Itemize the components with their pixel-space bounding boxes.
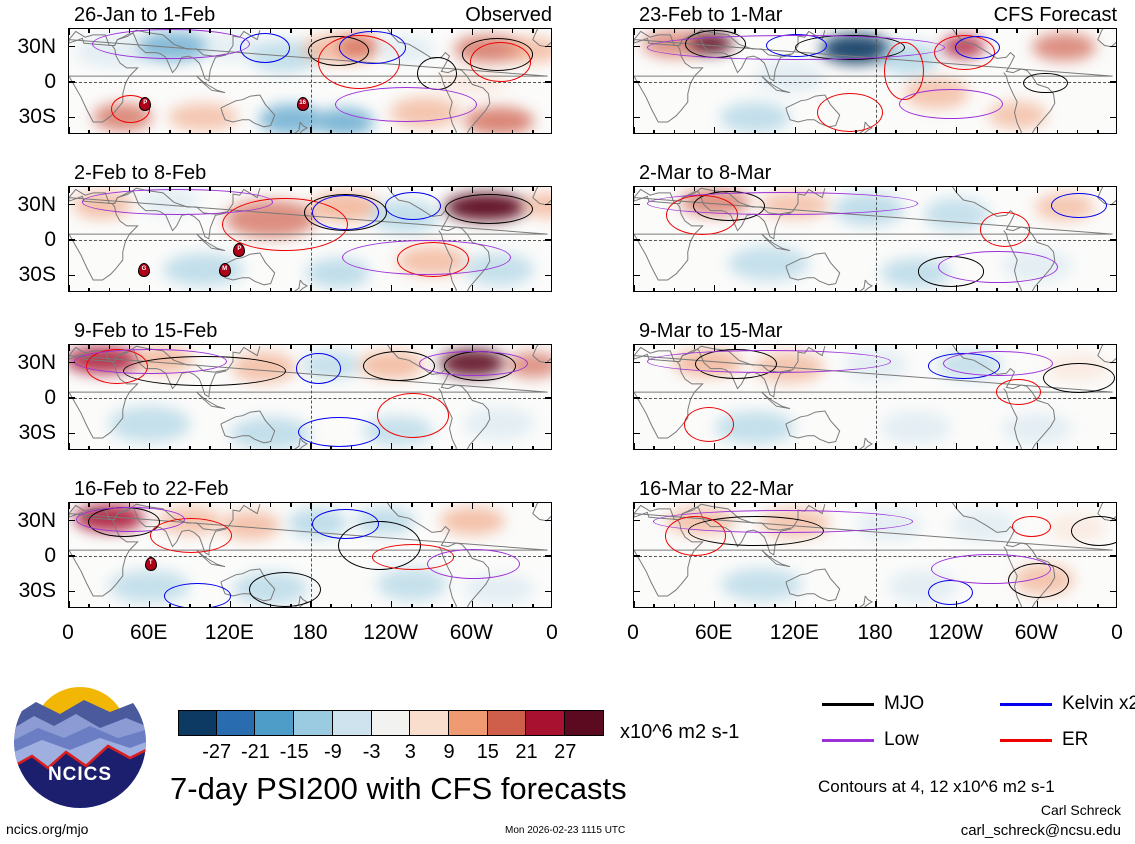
axis-tick	[68, 29, 69, 35]
axis-minor-tick	[532, 288, 533, 292]
axis-minor-tick	[411, 187, 412, 191]
axis-tick	[310, 443, 311, 449]
y-axis-label: 30N	[0, 510, 56, 531]
axis-tick	[472, 601, 473, 607]
axis-minor-tick	[512, 29, 513, 33]
axis-tick	[545, 555, 551, 556]
axis-minor-tick	[976, 29, 977, 33]
axis-minor-tick	[936, 604, 937, 608]
axis-minor-tick	[976, 446, 977, 450]
axis-tick	[472, 443, 473, 449]
axis-tick	[69, 555, 75, 556]
axis-minor-tick	[774, 29, 775, 33]
axis-minor-tick	[835, 446, 836, 450]
axis-minor-tick	[451, 29, 452, 33]
axis-minor-tick	[371, 604, 372, 608]
cyclone-marker: G	[138, 263, 150, 277]
axis-tick	[68, 443, 69, 449]
logo-mountains	[14, 676, 146, 808]
axis-minor-tick	[209, 604, 210, 608]
axis-minor-tick	[936, 29, 937, 33]
axis-minor-tick	[855, 29, 856, 33]
axis-minor-tick	[936, 187, 937, 191]
axis-tick	[310, 601, 311, 607]
axis-minor-tick	[815, 187, 816, 191]
axis-minor-tick	[330, 604, 331, 608]
axis-minor-tick	[371, 130, 372, 134]
panel-title: 9-Feb to 15-Feb	[74, 321, 217, 341]
colorbar-units-label: x10^6 m2 s-1	[620, 722, 739, 742]
axis-tick	[472, 285, 473, 291]
axis-tick	[956, 345, 957, 351]
axis-tick	[1110, 520, 1116, 521]
axis-minor-tick	[1016, 604, 1017, 608]
axis-tick	[391, 29, 392, 35]
axis-tick	[68, 285, 69, 291]
axis-minor-tick	[1077, 503, 1078, 507]
axis-minor-tick	[694, 29, 695, 33]
colorbar-swatch	[217, 710, 256, 736]
axis-minor-tick	[774, 604, 775, 608]
axis-tick	[230, 127, 231, 133]
axis-minor-tick	[351, 187, 352, 191]
axis-tick	[714, 127, 715, 133]
axis-minor-tick	[290, 130, 291, 134]
axis-minor-tick	[674, 503, 675, 507]
axis-minor-tick	[532, 345, 533, 349]
axis-minor-tick	[754, 130, 755, 134]
axis-tick	[634, 46, 640, 47]
axis-tick	[230, 601, 231, 607]
axis-minor-tick	[512, 187, 513, 191]
axis-minor-tick	[895, 187, 896, 191]
contour-kelvin	[312, 195, 379, 230]
axis-tick	[545, 46, 551, 47]
axis-minor-tick	[169, 446, 170, 450]
axis-minor-tick	[1057, 187, 1058, 191]
map-panel[interactable]: T	[68, 502, 552, 608]
axis-tick	[391, 503, 392, 509]
axis-minor-tick	[916, 345, 917, 349]
axis-minor-tick	[835, 288, 836, 292]
contour-er	[980, 212, 1030, 247]
axis-tick	[956, 127, 957, 133]
axis-minor-tick	[653, 130, 654, 134]
axis-tick	[633, 503, 634, 509]
axis-tick	[68, 187, 69, 193]
axis-tick	[68, 601, 69, 607]
axis-tick	[310, 285, 311, 291]
axis-tick	[875, 127, 876, 133]
axis-minor-tick	[916, 446, 917, 450]
axis-minor-tick	[936, 503, 937, 507]
axis-minor-tick	[290, 29, 291, 33]
axis-minor-tick	[1077, 345, 1078, 349]
x-axis-label: 60E	[109, 622, 189, 643]
colorbar-swatch	[294, 710, 333, 736]
axis-minor-tick	[895, 345, 896, 349]
axis-minor-tick	[169, 288, 170, 292]
legend-label: MJO	[884, 694, 924, 713]
axis-minor-tick	[129, 29, 130, 33]
axis-minor-tick	[431, 345, 432, 349]
axis-tick	[714, 443, 715, 449]
axis-minor-tick	[835, 29, 836, 33]
axis-tick	[391, 443, 392, 449]
axis-tick	[545, 81, 551, 82]
axis-tick	[633, 187, 634, 193]
axis-minor-tick	[129, 446, 130, 450]
axis-minor-tick	[330, 503, 331, 507]
axis-tick	[310, 187, 311, 193]
y-axis-label: 0	[0, 387, 56, 408]
axis-minor-tick	[674, 446, 675, 450]
map-panel[interactable]: P16	[68, 28, 552, 134]
axis-minor-tick	[290, 288, 291, 292]
axis-minor-tick	[1097, 288, 1098, 292]
axis-tick	[1037, 601, 1038, 607]
axis-minor-tick	[270, 187, 271, 191]
axis-tick	[1110, 397, 1116, 398]
axis-minor-tick	[815, 604, 816, 608]
axis-minor-tick	[431, 446, 432, 450]
axis-tick	[633, 127, 634, 133]
contour-note: Contours at 4, 12 x10^6 m2 s-1	[818, 778, 1055, 795]
author-email: carl_schreck@ncsu.edu	[961, 823, 1121, 838]
axis-minor-tick	[1077, 288, 1078, 292]
axis-tick	[875, 601, 876, 607]
y-axis-label: 30N	[0, 352, 56, 373]
cyclone-marker: T	[145, 557, 157, 571]
axis-minor-tick	[330, 446, 331, 450]
axis-tick	[230, 187, 231, 193]
legend-line-low	[822, 739, 874, 742]
axis-tick	[69, 239, 75, 240]
equator-line	[634, 240, 1116, 241]
axis-minor-tick	[351, 503, 352, 507]
axis-tick	[714, 285, 715, 291]
axis-minor-tick	[916, 503, 917, 507]
axis-minor-tick	[250, 446, 251, 450]
axis-minor-tick	[290, 345, 291, 349]
axis-minor-tick	[996, 345, 997, 349]
axis-minor-tick	[774, 503, 775, 507]
y-axis-label: 0	[0, 71, 56, 92]
axis-tick	[634, 275, 640, 276]
axis-minor-tick	[996, 288, 997, 292]
axis-tick	[875, 187, 876, 193]
axis-minor-tick	[694, 503, 695, 507]
axis-minor-tick	[351, 604, 352, 608]
y-axis-label: 30S	[0, 106, 56, 127]
axis-tick	[472, 345, 473, 351]
axis-minor-tick	[936, 345, 937, 349]
panel-title: 16-Mar to 22-Mar	[639, 479, 794, 499]
axis-minor-tick	[916, 604, 917, 608]
axis-minor-tick	[290, 446, 291, 450]
axis-minor-tick	[88, 130, 89, 134]
axis-minor-tick	[431, 503, 432, 507]
x-axis-label: 120E	[189, 622, 269, 643]
axis-minor-tick	[754, 345, 755, 349]
map-panel[interactable]	[633, 186, 1117, 292]
axis-tick	[634, 239, 640, 240]
legend-label: ER	[1062, 730, 1088, 749]
contour-er	[377, 393, 449, 437]
axis-tick	[391, 187, 392, 193]
axis-tick	[1110, 81, 1116, 82]
axis-tick	[633, 285, 634, 291]
panel-title: 2-Mar to 8-Mar	[639, 163, 771, 183]
axis-minor-tick	[189, 446, 190, 450]
map-panel[interactable]	[68, 344, 552, 450]
axis-tick	[149, 285, 150, 291]
map-panel[interactable]: PGM	[68, 186, 552, 292]
panel-title: 9-Mar to 15-Mar	[639, 321, 782, 341]
contour-er	[1012, 516, 1052, 537]
colorbar-swatch	[488, 710, 527, 736]
axis-minor-tick	[250, 29, 251, 33]
axis-minor-tick	[936, 130, 937, 134]
axis-minor-tick	[1016, 446, 1017, 450]
axis-minor-tick	[189, 288, 190, 292]
y-axis-label: 30S	[0, 422, 56, 443]
axis-minor-tick	[492, 503, 493, 507]
axis-tick	[634, 591, 640, 592]
axis-minor-tick	[1016, 29, 1017, 33]
axis-minor-tick	[674, 187, 675, 191]
axis-minor-tick	[1016, 288, 1017, 292]
axis-minor-tick	[774, 288, 775, 292]
axis-minor-tick	[734, 130, 735, 134]
x-axis-label: 120W	[351, 622, 431, 643]
axis-minor-tick	[88, 187, 89, 191]
axis-tick	[69, 46, 75, 47]
cyclone-marker: 16	[297, 97, 309, 111]
axis-minor-tick	[694, 446, 695, 450]
axis-minor-tick	[1057, 130, 1058, 134]
axis-minor-tick	[694, 604, 695, 608]
axis-minor-tick	[895, 130, 896, 134]
axis-minor-tick	[1077, 604, 1078, 608]
axis-minor-tick	[411, 130, 412, 134]
axis-minor-tick	[330, 130, 331, 134]
axis-minor-tick	[371, 288, 372, 292]
axis-minor-tick	[1077, 29, 1078, 33]
axis-tick	[875, 285, 876, 291]
legend-label: Low	[884, 730, 919, 749]
axis-tick	[310, 29, 311, 35]
axis-minor-tick	[351, 29, 352, 33]
axis-tick	[1037, 503, 1038, 509]
contour-low	[647, 350, 891, 373]
axis-minor-tick	[916, 29, 917, 33]
axis-minor-tick	[653, 604, 654, 608]
axis-minor-tick	[694, 187, 695, 191]
axis-tick	[956, 285, 957, 291]
axis-minor-tick	[774, 130, 775, 134]
axis-minor-tick	[431, 130, 432, 134]
axis-minor-tick	[492, 29, 493, 33]
axis-minor-tick	[855, 130, 856, 134]
axis-tick	[956, 443, 957, 449]
contour-kelvin	[928, 580, 973, 606]
legend-line-mjo	[822, 703, 874, 706]
axis-minor-tick	[734, 288, 735, 292]
axis-minor-tick	[1057, 29, 1058, 33]
axis-minor-tick	[209, 130, 210, 134]
axis-minor-tick	[189, 187, 190, 191]
axis-minor-tick	[270, 503, 271, 507]
axis-tick	[230, 503, 231, 509]
axis-minor-tick	[734, 187, 735, 191]
legend-line-er	[1000, 739, 1052, 742]
axis-minor-tick	[169, 187, 170, 191]
axis-minor-tick	[996, 29, 997, 33]
axis-minor-tick	[169, 604, 170, 608]
colorbar-swatch	[526, 710, 565, 736]
axis-minor-tick	[653, 446, 654, 450]
axis-minor-tick	[189, 604, 190, 608]
axis-minor-tick	[734, 604, 735, 608]
colorbar-swatch	[410, 710, 449, 736]
axis-tick	[472, 503, 473, 509]
axis-minor-tick	[88, 345, 89, 349]
colorbar-swatch	[449, 710, 488, 736]
axis-minor-tick	[976, 604, 977, 608]
axis-tick	[230, 345, 231, 351]
axis-tick	[149, 503, 150, 509]
axis-minor-tick	[895, 604, 896, 608]
axis-tick	[545, 362, 551, 363]
axis-minor-tick	[774, 187, 775, 191]
contour-low	[938, 251, 1058, 284]
axis-tick	[1037, 443, 1038, 449]
axis-minor-tick	[1057, 604, 1058, 608]
contour-er	[470, 42, 531, 82]
axis-minor-tick	[1016, 503, 1017, 507]
contour-low	[74, 349, 227, 375]
axis-minor-tick	[129, 187, 130, 191]
contour-kelvin	[312, 509, 379, 539]
axis-minor-tick	[109, 130, 110, 134]
axis-minor-tick	[855, 345, 856, 349]
axis-minor-tick	[895, 288, 896, 292]
axis-minor-tick	[451, 604, 452, 608]
axis-tick	[956, 187, 957, 193]
axis-tick	[634, 433, 640, 434]
axis-tick	[69, 204, 75, 205]
axis-tick	[230, 285, 231, 291]
axis-minor-tick	[1097, 187, 1098, 191]
axis-tick	[714, 601, 715, 607]
axis-tick	[795, 345, 796, 351]
axis-tick	[1110, 204, 1116, 205]
x-axis-label: 60E	[674, 622, 754, 643]
axis-tick	[545, 239, 551, 240]
axis-minor-tick	[936, 288, 937, 292]
map-panel[interactable]	[633, 344, 1117, 450]
axis-minor-tick	[109, 604, 110, 608]
axis-minor-tick	[270, 345, 271, 349]
axis-tick	[1037, 345, 1038, 351]
contour-low	[427, 549, 520, 579]
axis-minor-tick	[774, 345, 775, 349]
axis-tick	[149, 443, 150, 449]
axis-tick	[1110, 117, 1116, 118]
axis-minor-tick	[895, 29, 896, 33]
axis-minor-tick	[976, 503, 977, 507]
axis-minor-tick	[330, 29, 331, 33]
axis-minor-tick	[492, 187, 493, 191]
axis-minor-tick	[653, 187, 654, 191]
axis-minor-tick	[653, 288, 654, 292]
axis-minor-tick	[512, 446, 513, 450]
axis-minor-tick	[330, 187, 331, 191]
axis-minor-tick	[88, 604, 89, 608]
axis-tick	[633, 601, 634, 607]
axis-tick	[795, 503, 796, 509]
axis-tick	[472, 29, 473, 35]
map-panel[interactable]	[633, 502, 1117, 608]
axis-minor-tick	[734, 29, 735, 33]
axis-minor-tick	[451, 288, 452, 292]
axis-minor-tick	[290, 604, 291, 608]
axis-minor-tick	[351, 446, 352, 450]
axis-minor-tick	[351, 345, 352, 349]
axis-tick	[545, 520, 551, 521]
axis-minor-tick	[371, 345, 372, 349]
axis-tick	[1110, 433, 1116, 434]
axis-minor-tick	[855, 187, 856, 191]
map-panel[interactable]	[633, 28, 1117, 134]
axis-minor-tick	[209, 503, 210, 507]
main-title: 7-day PSI200 with CFS forecasts	[170, 773, 627, 804]
axis-minor-tick	[996, 187, 997, 191]
axis-minor-tick	[754, 446, 755, 450]
site-url[interactable]: ncics.org/mjo	[6, 822, 88, 836]
axis-tick	[472, 187, 473, 193]
axis-minor-tick	[1097, 503, 1098, 507]
axis-tick	[634, 397, 640, 398]
contour-kelvin	[164, 583, 231, 608]
axis-minor-tick	[996, 503, 997, 507]
axis-minor-tick	[1097, 604, 1098, 608]
axis-minor-tick	[835, 130, 836, 134]
axis-minor-tick	[976, 187, 977, 191]
axis-minor-tick	[512, 130, 513, 134]
axis-tick	[68, 503, 69, 509]
axis-tick	[714, 503, 715, 509]
axis-minor-tick	[674, 288, 675, 292]
axis-minor-tick	[209, 345, 210, 349]
axis-tick	[69, 117, 75, 118]
axis-tick	[875, 443, 876, 449]
legend-line-kelvin-x2	[1000, 703, 1052, 706]
x-axis-label: 60W	[996, 622, 1076, 643]
y-axis-label: 0	[0, 229, 56, 250]
contour-er	[996, 379, 1041, 405]
axis-minor-tick	[270, 29, 271, 33]
axis-tick	[391, 345, 392, 351]
axis-minor-tick	[169, 29, 170, 33]
axis-minor-tick	[270, 130, 271, 134]
equator-line	[634, 398, 1116, 399]
colorbar-tick-label: 27	[535, 742, 595, 762]
axis-minor-tick	[451, 345, 452, 349]
axis-minor-tick	[290, 503, 291, 507]
axis-minor-tick	[653, 345, 654, 349]
